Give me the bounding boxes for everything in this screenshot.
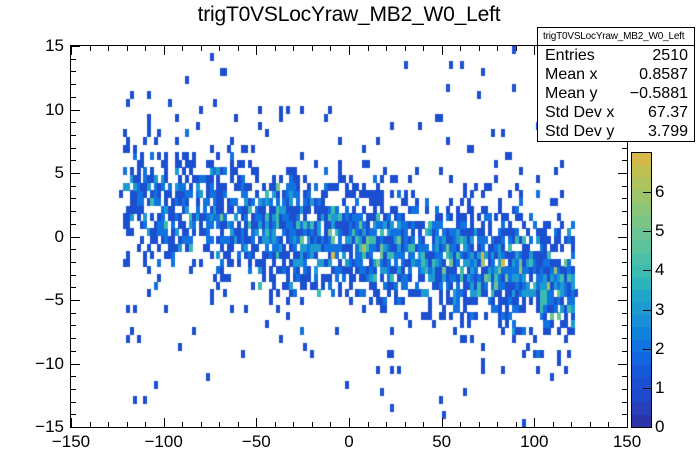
y-axis-minor-tick [71,325,76,326]
x-axis-top-minor-tick [182,46,183,51]
y-axis-right-minor-tick [622,376,627,377]
y-axis-label: −15 [12,418,64,436]
y-axis-minor-tick [71,211,76,212]
y-axis-right-minor-tick [622,351,627,352]
color-scale-label: 2 [655,340,664,358]
color-scale-label: 5 [655,222,664,240]
y-axis-right-minor-tick [622,338,627,339]
stats-value: 3.799 [648,122,688,141]
x-axis-minor-tick [571,422,572,427]
color-scale-label: 4 [655,261,664,279]
x-axis-top-minor-tick [405,46,406,51]
y-axis-minor-tick [71,186,76,187]
x-axis-top-minor-tick [108,46,109,51]
y-axis-right-minor-tick [622,287,627,288]
stats-row: Mean y−0.5881 [538,84,694,103]
y-axis-right-minor-tick [622,224,627,225]
y-axis-right-minor-tick [622,262,627,263]
y-axis-minor-tick [71,351,76,352]
color-scale-tick [643,231,651,232]
x-axis-top-major-tick [256,46,257,55]
stats-histogram-name: trigT0VSLocYraw_MB2_W0_Left [538,28,694,46]
y-axis-right-minor-tick [622,402,627,403]
x-axis-major-tick [71,418,72,427]
x-axis-top-minor-tick [312,46,313,51]
y-axis-minor-tick [71,160,76,161]
stats-row: Entries2510 [538,46,694,65]
y-axis-minor-tick [71,148,76,149]
y-axis-right-minor-tick [622,186,627,187]
x-axis-top-major-tick [164,46,165,55]
color-scale-tick [643,427,651,428]
y-axis-minor-tick [71,224,76,225]
x-axis-top-minor-tick [219,46,220,51]
x-axis-minor-tick [275,422,276,427]
y-axis-right-major-tick [618,300,627,301]
y-axis-right-minor-tick [622,389,627,390]
x-axis-top-minor-tick [330,46,331,51]
y-axis-minor-tick [71,389,76,390]
color-scale-tick [643,349,651,350]
x-axis-major-tick [534,418,535,427]
x-axis-minor-tick [405,422,406,427]
color-scale-label: 0 [655,418,664,436]
x-axis-minor-tick [497,422,498,427]
x-axis-minor-tick [145,422,146,427]
y-axis-major-tick [71,173,80,174]
y-axis-minor-tick [71,84,76,85]
stats-value: 0.8587 [639,65,688,84]
statistics-box[interactable]: trigT0VSLocYraw_MB2_W0_Left Entries2510M… [537,27,695,142]
x-axis-minor-tick [108,422,109,427]
y-axis-minor-tick [71,275,76,276]
stats-key: Std Dev x [545,103,614,122]
y-axis-major-tick [71,300,80,301]
x-axis-minor-tick [386,422,387,427]
x-axis-minor-tick [368,422,369,427]
stats-row: Std Dev x67.37 [538,103,694,122]
x-axis-major-tick [256,418,257,427]
y-axis-minor-tick [71,59,76,60]
y-axis-label: −10 [12,355,64,373]
x-axis-major-tick [164,418,165,427]
color-scale-tick [643,270,651,271]
x-axis-minor-tick [608,422,609,427]
x-axis-label: −50 [216,433,296,451]
y-axis-minor-tick [71,97,76,98]
y-axis-right-minor-tick [622,160,627,161]
stats-key: Mean x [545,65,597,84]
y-axis-minor-tick [71,402,76,403]
y-axis-minor-tick [71,376,76,377]
x-axis-top-minor-tick [293,46,294,51]
x-axis-minor-tick [201,422,202,427]
x-axis-top-major-tick [71,46,72,55]
stats-value: −0.5881 [630,84,688,103]
color-scale-label: 6 [655,183,664,201]
y-axis-minor-tick [71,135,76,136]
y-axis-minor-tick [71,122,76,123]
y-axis-label: 15 [12,37,64,55]
y-axis-right-minor-tick [622,313,627,314]
x-axis-top-major-tick [349,46,350,55]
y-axis-label: 10 [12,101,64,119]
y-axis-major-tick [71,364,80,365]
y-axis-minor-tick [71,338,76,339]
y-axis-major-tick [71,237,80,238]
x-axis-top-minor-tick [275,46,276,51]
x-axis-minor-tick [590,422,591,427]
y-axis-major-tick [71,110,80,111]
x-axis-minor-tick [182,422,183,427]
y-axis-minor-tick [71,287,76,288]
x-axis-minor-tick [293,422,294,427]
x-axis-label: −100 [124,433,204,451]
y-axis-major-tick [71,427,80,428]
x-axis-minor-tick [423,422,424,427]
x-axis-minor-tick [330,422,331,427]
y-axis-right-minor-tick [622,249,627,250]
stats-rows: Entries2510Mean x0.8587Mean y−0.5881Std … [538,46,694,141]
x-axis-top-minor-tick [145,46,146,51]
y-axis-minor-tick [71,414,76,415]
x-axis-top-minor-tick [127,46,128,51]
color-scale-bar [631,152,652,428]
x-axis-top-minor-tick [201,46,202,51]
x-axis-minor-tick [219,422,220,427]
y-axis-right-minor-tick [622,275,627,276]
x-axis-minor-tick [90,422,91,427]
x-axis-top-minor-tick [479,46,480,51]
stats-value: 67.37 [648,103,688,122]
x-axis-minor-tick [127,422,128,427]
y-axis-right-minor-tick [622,198,627,199]
page-title: trigT0VSLocYraw_MB2_W0_Left [0,3,698,27]
x-axis-top-minor-tick [386,46,387,51]
x-axis-top-minor-tick [90,46,91,51]
color-scale-label: 3 [655,301,664,319]
y-axis-right-minor-tick [622,211,627,212]
y-axis-minor-tick [71,313,76,314]
y-axis-right-major-tick [618,173,627,174]
y-axis-right-minor-tick [622,325,627,326]
color-scale-tick [643,388,651,389]
color-scale-label: 1 [655,379,664,397]
x-axis-minor-tick [312,422,313,427]
x-axis-major-tick [442,418,443,427]
x-axis-minor-tick [479,422,480,427]
x-axis-top-major-tick [442,46,443,55]
x-axis-top-minor-tick [516,46,517,51]
stats-row: Std Dev y3.799 [538,122,694,141]
x-axis-top-minor-tick [497,46,498,51]
y-axis-right-major-tick [618,237,627,238]
color-scale-gradient [632,153,651,427]
y-axis-right-minor-tick [622,148,627,149]
y-axis-right-major-tick [618,427,627,428]
x-axis-label: 50 [402,433,482,451]
y-axis-minor-tick [71,249,76,250]
x-axis-minor-tick [516,422,517,427]
x-axis-top-minor-tick [460,46,461,51]
y-axis-right-minor-tick [622,414,627,415]
x-axis-major-tick [627,418,628,427]
x-axis-minor-tick [238,422,239,427]
stats-row: Mean x0.8587 [538,65,694,84]
x-axis-top-minor-tick [368,46,369,51]
x-axis-minor-tick [460,422,461,427]
y-axis-label: 0 [12,228,64,246]
color-scale-tick [643,310,651,311]
x-axis-major-tick [349,418,350,427]
x-axis-top-minor-tick [423,46,424,51]
color-scale-tick [643,192,651,193]
x-axis-top-major-tick [534,46,535,55]
x-axis-label: 0 [309,433,389,451]
stats-value: 2510 [652,46,688,65]
y-axis-right-major-tick [618,364,627,365]
stats-key: Std Dev y [545,122,614,141]
x-axis-minor-tick [553,422,554,427]
y-axis-label: 5 [12,164,64,182]
y-axis-label: −5 [12,291,64,309]
x-axis-top-minor-tick [238,46,239,51]
y-axis-minor-tick [71,262,76,263]
y-axis-minor-tick [71,71,76,72]
stats-key: Entries [545,46,595,65]
y-axis-minor-tick [71,198,76,199]
x-axis-label: 100 [494,433,574,451]
y-axis-major-tick [71,46,80,47]
stats-key: Mean y [545,84,597,103]
